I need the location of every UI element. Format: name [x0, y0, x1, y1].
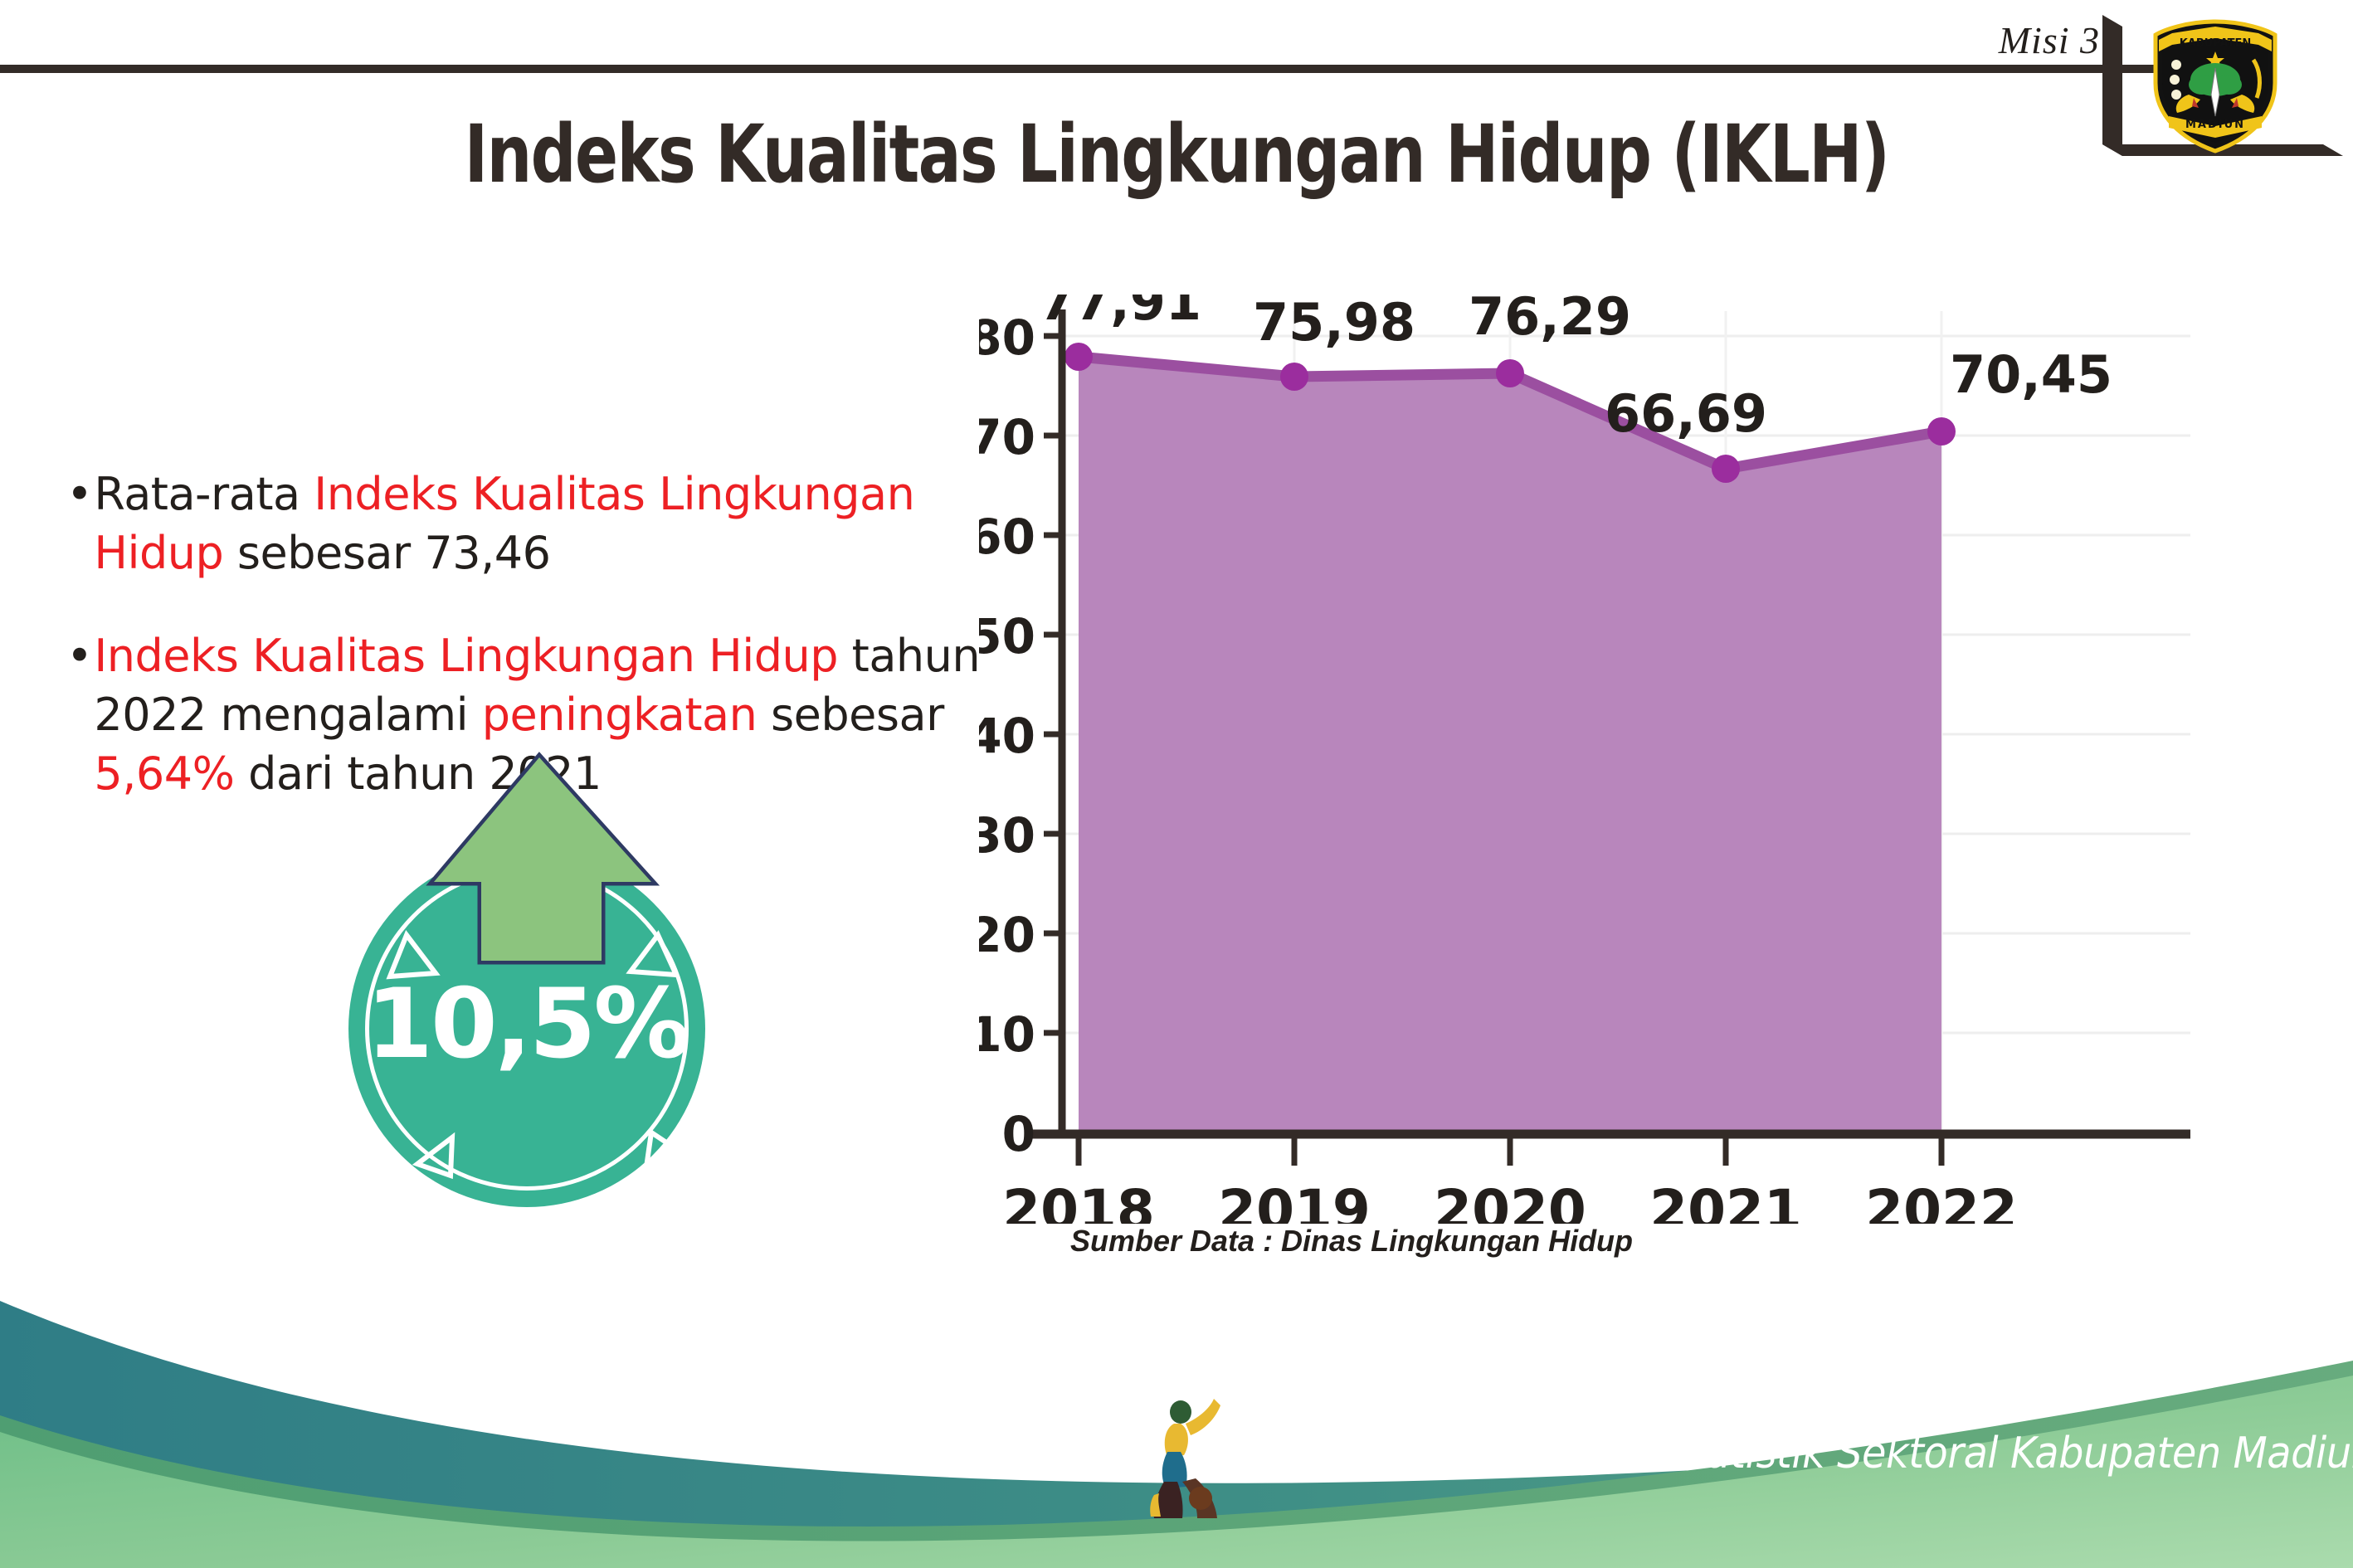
x-tick-label-2022: 2022 — [1865, 1178, 2018, 1224]
bullet-text-1: Rata-rata Indeks Kualitas Lingkungan Hid… — [94, 465, 987, 583]
iklh-area-chart: 80 70 60 50 40 30 20 10 0 2018 2019 2020… — [979, 295, 2257, 1290]
data-label-2020: 76,29 — [1469, 295, 1631, 347]
chart-svg: 80 70 60 50 40 30 20 10 0 2018 2019 2020… — [979, 295, 2257, 1224]
data-point-2021 — [1712, 455, 1740, 483]
x-tick-label-2021: 2021 — [1649, 1178, 1802, 1224]
chart-x-ticks — [1079, 1134, 1941, 1166]
y-tick-label-10: 10 — [979, 1006, 1035, 1063]
list-item: • Rata-rata Indeks Kualitas Lingkungan H… — [66, 465, 987, 583]
y-tick-label-50: 50 — [979, 608, 1035, 665]
chart-area-fill — [1079, 357, 1941, 1132]
data-point-2019 — [1280, 363, 1308, 391]
bullet-1-part-2: sebesar 73,46 — [223, 527, 550, 579]
data-point-2020 — [1496, 359, 1524, 387]
chart-x-tick-labels: 2018 2019 2020 2021 2022 — [1002, 1178, 2018, 1224]
data-label-2019: 75,98 — [1253, 295, 1415, 353]
data-point-2022 — [1927, 417, 1956, 446]
emblem-top-text: KABUPATEN — [2180, 37, 2252, 50]
data-label-2022: 70,45 — [1950, 344, 2112, 405]
y-tick-label-40: 40 — [979, 708, 1035, 764]
bullet-1-part-0: Rata-rata — [94, 468, 314, 520]
data-label-2021: 66,69 — [1605, 383, 1767, 444]
increase-badge: 10,5% — [328, 751, 792, 1215]
y-tick-label-60: 60 — [979, 509, 1035, 565]
footer-caption: Media Infografis Data Statistik Sektoral… — [1236, 1429, 2353, 1478]
emblem-bottom-text: MADIUN — [2185, 119, 2245, 131]
bullet-marker: • — [66, 626, 92, 685]
header-rule — [0, 65, 2174, 73]
statistics-person-icon — [1149, 1395, 1240, 1520]
y-tick-label-0: 0 — [1002, 1106, 1035, 1162]
y-tick-label-70: 70 — [979, 409, 1035, 465]
chart-source-note: Sumber Data : Dinas Lingkungan Hidup — [1070, 1224, 1633, 1259]
y-tick-label-80: 80 — [979, 309, 1035, 366]
bullet-marker: • — [66, 465, 92, 523]
x-tick-label-2018: 2018 — [1002, 1178, 1155, 1224]
y-tick-label-30: 30 — [979, 807, 1035, 864]
bullet-2-part-4: 5,64% — [94, 747, 234, 800]
kabupaten-madiun-emblem-icon: KABUPATEN — [2156, 22, 2275, 151]
bullet-2-part-3: sebesar — [757, 689, 943, 741]
logo-frame-svg: KABUPATEN — [2079, 0, 2353, 166]
data-point-2018 — [1064, 343, 1093, 371]
badge-value-label: 10,5% — [348, 968, 705, 1080]
chart-y-tick-labels: 80 70 60 50 40 30 20 10 0 — [979, 309, 1035, 1162]
data-label-2018: 77,91 — [1039, 295, 1201, 332]
page-title: Indeks Kualitas Lingkungan Hidup (IKLH) — [236, 108, 2118, 201]
x-tick-label-2020: 2020 — [1434, 1178, 1586, 1224]
bullet-2-part-2: peningkatan — [482, 689, 758, 741]
tick-triangle-bottom-right — [646, 1132, 686, 1167]
tick-triangle-bottom-left — [417, 1137, 452, 1176]
logo-bracket-frame: KABUPATEN — [2079, 0, 2353, 166]
x-tick-label-2019: 2019 — [1218, 1178, 1371, 1224]
bullet-2-part-0: Indeks Kualitas Lingkungan Hidup — [94, 630, 838, 682]
y-tick-label-20: 20 — [979, 907, 1035, 963]
